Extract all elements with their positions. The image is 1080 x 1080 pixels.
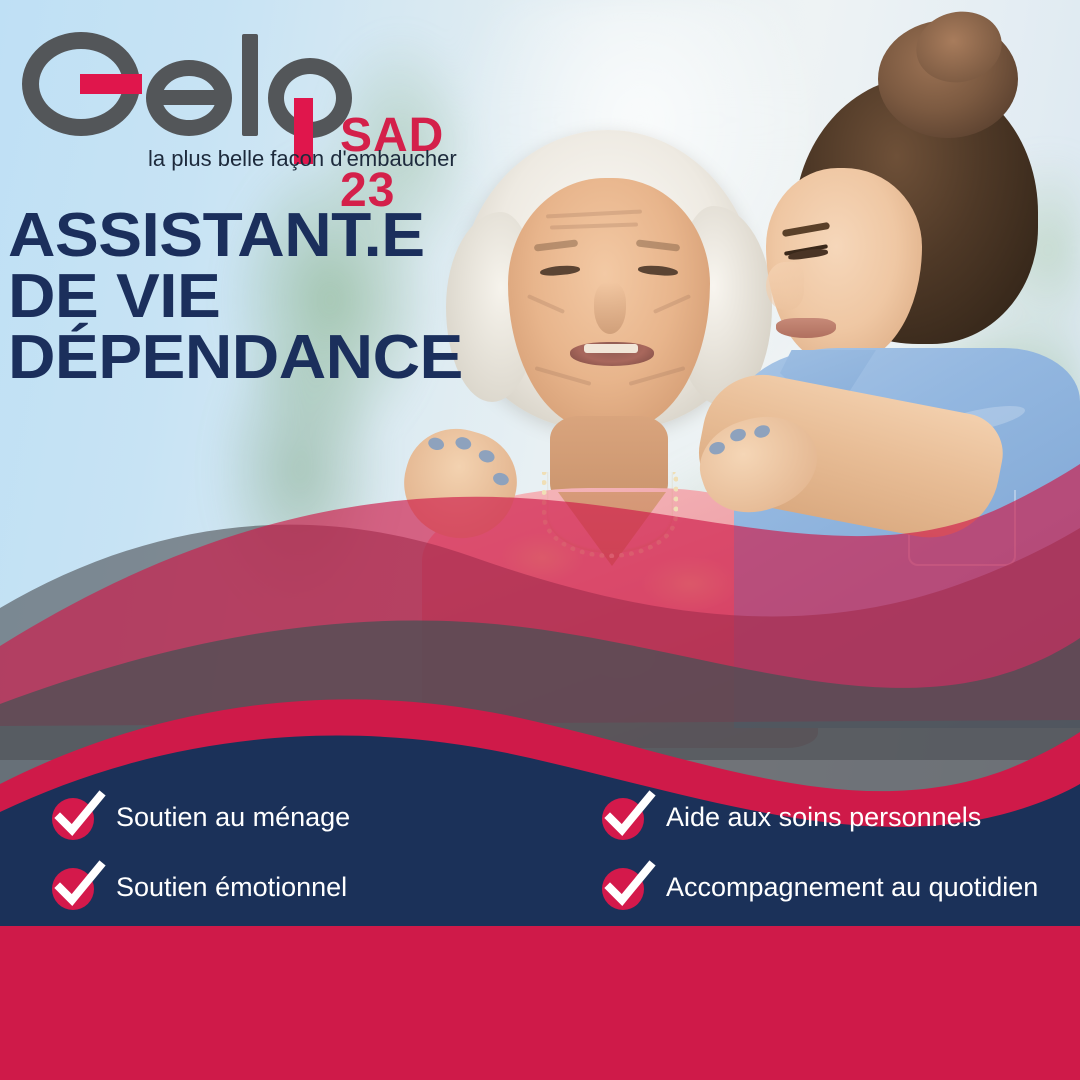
poster: SAD 23 la plus belle façon d'embaucher A… xyxy=(0,0,1080,1080)
logo-e-crossbar xyxy=(152,90,228,105)
page-title: ASSISTANT.E DE VIE DÉPENDANCE xyxy=(8,206,463,388)
headline-line-2: DE VIE xyxy=(8,267,463,328)
list-item: Soutien émotionnel xyxy=(0,864,560,910)
headline-line-3: DÉPENDANCE xyxy=(8,328,463,389)
feature-list: Soutien au ménage Aide aux soins personn… xyxy=(0,782,1080,922)
check-circle-icon xyxy=(602,864,648,910)
logo-letter-i xyxy=(242,34,258,136)
list-item: Soutien au ménage xyxy=(0,794,560,840)
feature-label: Aide aux soins personnels xyxy=(666,802,981,833)
logo-tagline: la plus belle façon d'embaucher xyxy=(148,146,457,172)
feature-label: Soutien émotionnel xyxy=(116,872,347,903)
feature-label: Accompagnement au quotidien xyxy=(666,872,1038,903)
check-circle-icon xyxy=(602,794,648,840)
geiq-wordmark: SAD 23 xyxy=(18,30,498,140)
list-item: Accompagnement au quotidien xyxy=(560,864,1080,910)
logo-g-red-bar-icon xyxy=(80,74,142,94)
check-circle-icon xyxy=(52,794,98,840)
list-item: Aide aux soins personnels xyxy=(560,794,1080,840)
geiq-logo[interactable]: SAD 23 la plus belle façon d'embaucher xyxy=(18,30,498,180)
feature-label: Soutien au ménage xyxy=(116,802,350,833)
headline-line-1: ASSISTANT.E xyxy=(8,206,463,267)
check-circle-icon xyxy=(52,864,98,910)
bottom-red-bar xyxy=(0,926,1080,1080)
